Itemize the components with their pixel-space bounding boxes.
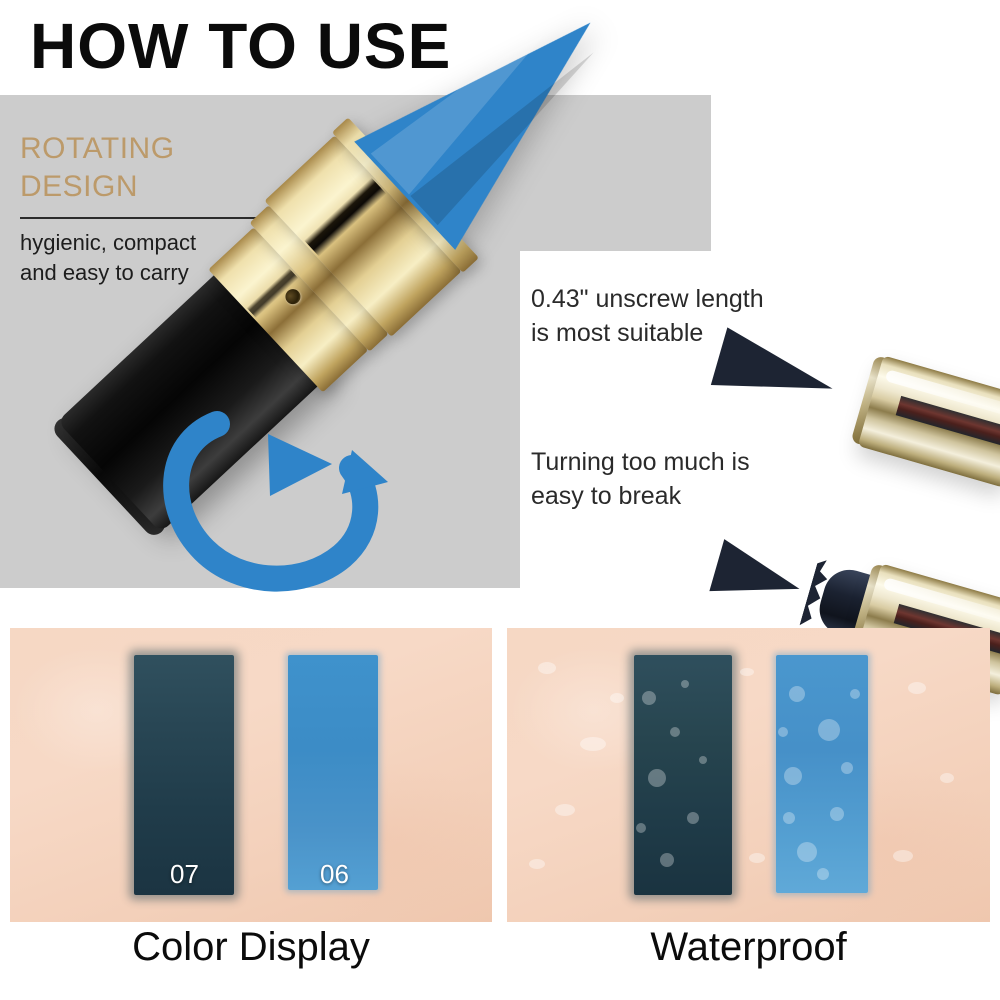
caption-color-display: Color Display (10, 925, 492, 970)
caption-waterproof: Waterproof (507, 925, 990, 970)
rotate-arrow-icon (156, 390, 416, 600)
swatch-06 (288, 655, 378, 890)
rotating-pen-illustration (60, 60, 620, 580)
swatch-07-label: 07 (170, 859, 199, 890)
swatch-waterproof-dark (634, 655, 732, 895)
infographic-canvas: HOW TO USE ROTATING DESIGN hygienic, com… (0, 0, 1000, 1000)
waterproof-skin-panel (507, 628, 990, 922)
pencil-tip-broken-piece (709, 539, 807, 615)
pencil-tip-intact (711, 327, 841, 417)
swatch-06-label: 06 (320, 859, 349, 890)
swatch-waterproof-blue (776, 655, 868, 893)
color-display-skin-panel (10, 628, 492, 922)
